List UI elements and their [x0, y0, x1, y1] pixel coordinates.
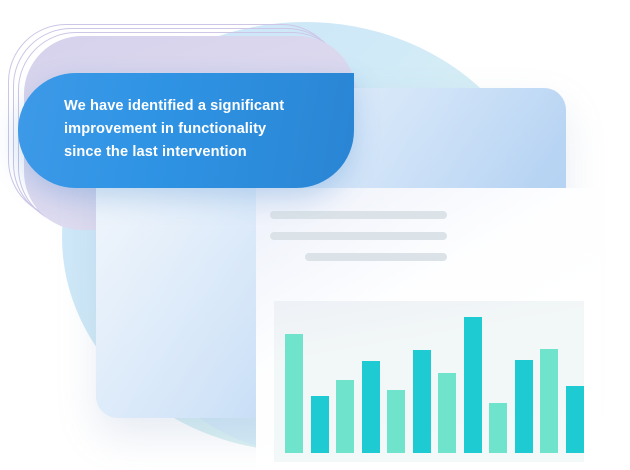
bar-4 — [362, 361, 380, 453]
illustration-canvas: We have identified a significant improve… — [0, 0, 630, 470]
bar-12 — [566, 386, 584, 453]
doc-line-2 — [270, 232, 447, 240]
speech-bubble-line-3: since the last intervention — [64, 141, 340, 164]
bar-chart-bars — [274, 301, 584, 462]
bar-9 — [489, 403, 507, 453]
bar-chart-panel — [274, 301, 584, 462]
bar-6 — [413, 350, 431, 453]
home-button[interactable] — [626, 322, 630, 350]
bar-8 — [464, 317, 482, 453]
bar-3 — [336, 380, 354, 453]
bar-7 — [438, 373, 456, 453]
bar-11 — [540, 349, 558, 453]
doc-line-1 — [270, 211, 447, 219]
speech-bubble-line-1: We have identified a significant — [64, 95, 340, 118]
tablet-screen — [256, 188, 601, 470]
bar-1 — [285, 334, 303, 453]
speech-bubble-text: We have identified a significant improve… — [64, 95, 340, 164]
speech-bubble-line-2: improvement in functionality — [64, 118, 340, 141]
bar-10 — [515, 360, 533, 453]
bar-2 — [311, 396, 329, 453]
doc-line-3 — [305, 253, 447, 261]
speech-bubble: We have identified a significant improve… — [18, 73, 354, 188]
bar-5 — [387, 390, 405, 453]
